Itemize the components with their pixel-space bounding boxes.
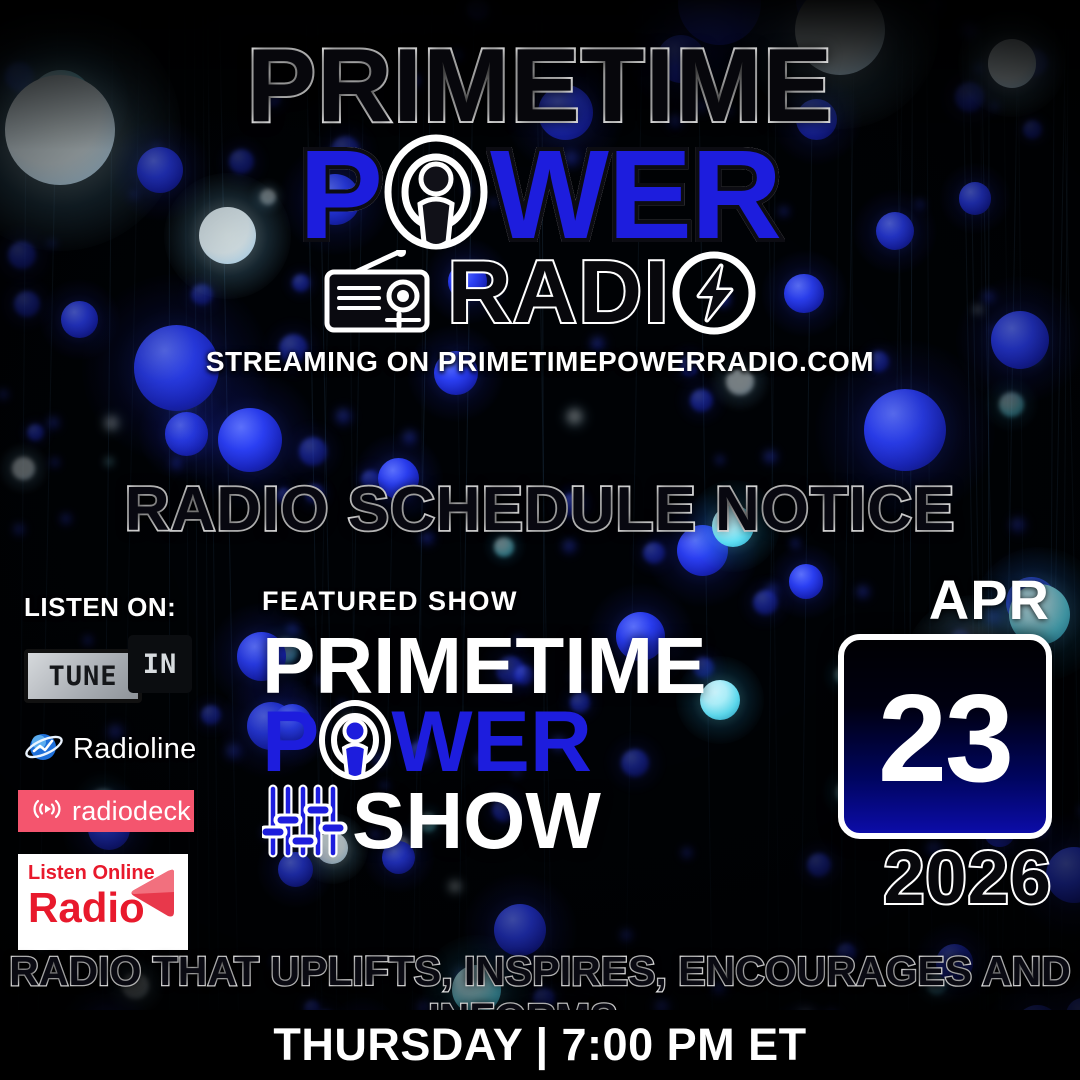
streaming-url-line: STREAMING ON PRIMETIMEPOWERRADIO.COM [0,346,1080,378]
date-month: APR [820,572,1056,628]
featured-show-label: FEATURED SHOW [262,586,762,617]
platform-badge-listen-online-radio[interactable]: Listen Online Radio [18,854,188,950]
schedule-text: THURSDAY | 7:00 PM ET [273,1019,806,1071]
schedule-bar: THURSDAY | 7:00 PM ET [0,1010,1080,1080]
logo-power-right-text: WER [490,124,781,265]
tunein-tune-text: TUNE [48,661,117,692]
logo-power-row: P WER [0,132,1080,258]
featured-show-block: FEATURED SHOW PRIMETIME P [262,586,762,861]
logo-primetime: PRIMETIME [0,34,1080,138]
featured-show-power-row: P WER [262,699,762,785]
poster-canvas: PRIMETIME P WER [0,0,1080,1080]
date-day: 23 [878,677,1012,801]
logo-power-left-text: P [299,124,382,265]
listen-on-label: LISTEN ON: [24,592,208,623]
listen-on-panel: LISTEN ON: TUNE IN Radioline [18,592,208,950]
station-logo: PRIMETIME P WER [0,34,1080,378]
date-year: 2026 [820,841,1056,915]
play-triangle-icon [124,866,182,929]
notice-heading: RADIO SCHEDULE NOTICE [0,474,1080,545]
radioline-planet-icon [24,727,64,772]
equalizer-faders-icon [262,784,348,858]
platform-badge-tunein[interactable]: TUNE IN [24,635,192,705]
podcast-mic-icon [316,699,394,785]
featured-power-left-text: P [262,694,319,790]
podcast-mic-icon [380,132,492,258]
logo-power-right: WER [490,132,781,258]
featured-show-word: SHOW [352,781,601,861]
lightning-bolt-icon [671,250,757,336]
platform-badge-radiodeck[interactable]: radiodeck [18,790,194,832]
tunein-left-box: TUNE [24,649,142,703]
platform-badge-radioline[interactable]: Radioline [24,727,208,772]
radioline-label: Radioline [73,733,197,766]
tunein-in-text: IN [143,649,178,680]
tunein-right-box: IN [128,635,192,693]
featured-power-right-text: WER [391,694,592,790]
featured-power-left: P [262,699,319,785]
broadcast-icon [30,796,64,827]
featured-show-word-row: SHOW [262,781,762,861]
logo-power-left: P [299,132,382,258]
featured-power-right: WER [391,699,592,785]
date-block: APR 23 2026 [820,572,1056,915]
radiodeck-label: radiodeck [72,796,191,827]
date-card: 23 [838,634,1052,839]
